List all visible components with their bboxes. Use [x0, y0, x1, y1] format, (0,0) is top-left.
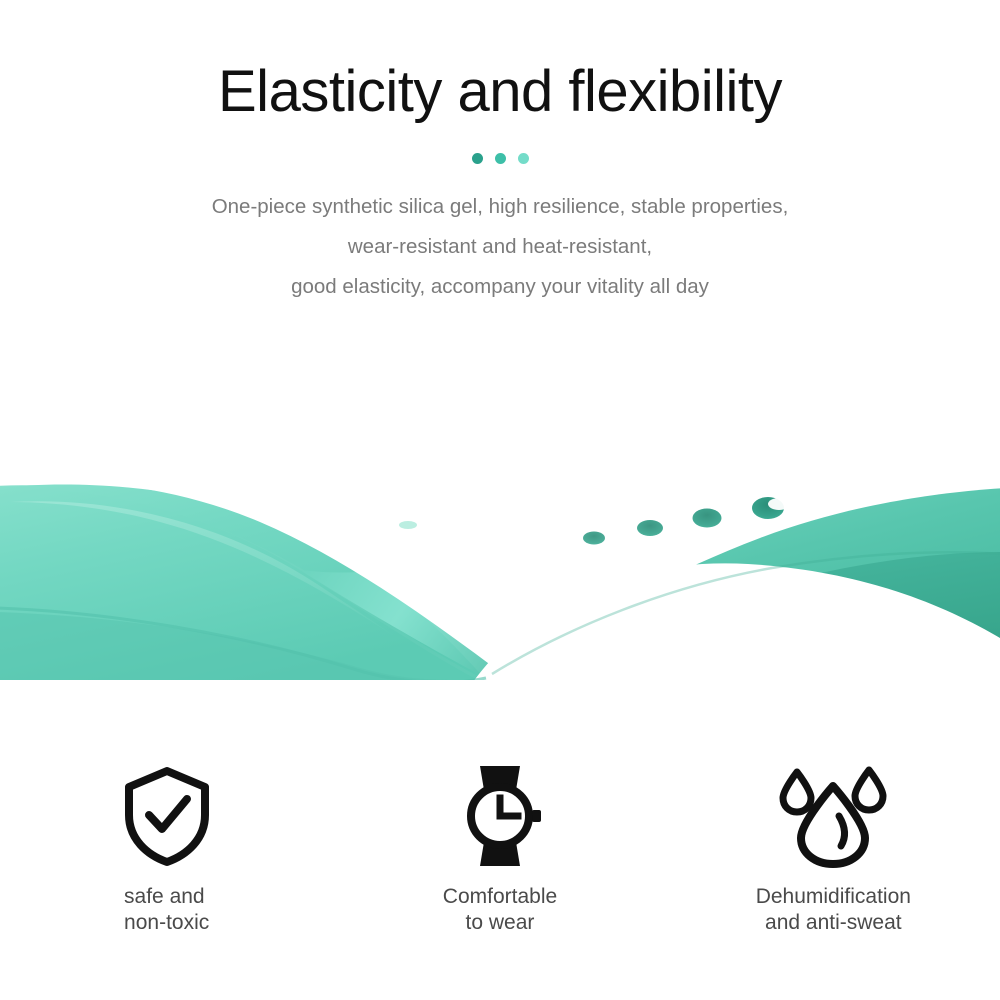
subtitle: One-piece synthetic silica gel, high res… — [0, 165, 1000, 307]
band-highlight-spot — [399, 521, 417, 529]
feature-caption: Comfortable to wear — [443, 884, 557, 937]
page-title: Elasticity and flexibility — [0, 0, 1000, 123]
subtitle-line-3: good elasticity, accompany your vitality… — [0, 267, 1000, 307]
feature-icon-wrap — [119, 762, 215, 870]
water-droplets-icon — [779, 764, 887, 868]
subtitle-line-1: One-piece synthetic silica gel, high res… — [0, 187, 1000, 227]
feature-icon-wrap — [779, 762, 887, 870]
shield-check-icon — [119, 765, 215, 867]
product-feature-page: Elasticity and flexibility One-piece syn… — [0, 0, 1000, 1000]
dot-2-icon — [495, 153, 506, 164]
wristwatch-icon — [452, 764, 548, 868]
feature-caption: safe and non-toxic — [124, 884, 209, 937]
dot-1-icon — [472, 153, 483, 164]
band-hole-1 — [583, 532, 605, 545]
header: Elasticity and flexibility One-piece syn… — [0, 0, 1000, 307]
band-hole-3 — [693, 509, 722, 528]
twisted-silicone-band-illustration — [0, 380, 1000, 680]
feature-caption: Dehumidification and anti-sweat — [756, 884, 911, 937]
decorative-dots — [0, 153, 1000, 165]
subtitle-line-2: wear-resistant and heat-resistant, — [0, 227, 1000, 267]
feature-safe-non-toxic: safe and non-toxic — [0, 762, 333, 962]
dot-3-icon — [518, 153, 529, 164]
feature-icon-wrap — [452, 762, 548, 870]
band-hole-2 — [637, 520, 663, 536]
feature-row: safe and non-toxic Comfortable to we — [0, 762, 1000, 962]
feature-comfortable-to-wear: Comfortable to wear — [333, 762, 666, 962]
band-hole-4-open — [768, 498, 790, 510]
product-image — [0, 380, 1000, 680]
feature-dehumidification: Dehumidification and anti-sweat — [667, 762, 1000, 962]
